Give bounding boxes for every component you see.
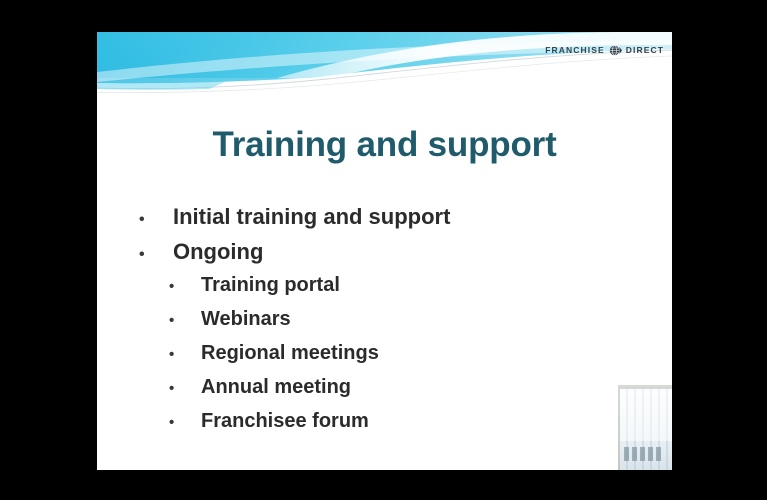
bullet-item-ongoing: • Ongoing xyxy=(97,239,672,274)
bullet-marker-icon: • xyxy=(169,414,201,431)
webcam-video-feed xyxy=(618,385,672,470)
bullet-item-annual-meeting: • Annual meeting xyxy=(97,376,672,410)
bullet-marker-icon: • xyxy=(169,278,201,295)
bullet-marker-icon: • xyxy=(169,380,201,397)
bullet-label: Franchisee forum xyxy=(201,410,369,433)
bullet-item-training-portal: • Training portal xyxy=(97,274,672,308)
video-letterbox-frame: FRANCHISE DIRECT Training and support • … xyxy=(0,0,767,500)
slide-title: Training and support xyxy=(97,126,672,165)
bullet-label: Training portal xyxy=(201,274,340,297)
bullet-marker-icon: • xyxy=(169,346,201,363)
bullet-item-webinars: • Webinars xyxy=(97,308,672,342)
bullet-item-franchisee-forum: • Franchisee forum xyxy=(97,410,672,444)
bullet-label: Initial training and support xyxy=(173,204,450,230)
slide-header-banner xyxy=(97,32,672,94)
bullet-item-initial-training-and-support: • Initial training and support xyxy=(97,204,672,239)
brand-word-franchise: FRANCHISE xyxy=(545,46,605,55)
bullet-label: Annual meeting xyxy=(201,376,351,399)
header-swoosh-graphic xyxy=(97,32,672,94)
bullet-marker-icon: • xyxy=(139,246,173,264)
bullet-label: Ongoing xyxy=(173,239,263,265)
bullet-marker-icon: • xyxy=(169,312,201,329)
brand-word-direct: DIRECT xyxy=(626,46,664,55)
franchise-direct-logo: FRANCHISE DIRECT xyxy=(545,44,664,57)
bullet-item-regional-meetings: • Regional meetings xyxy=(97,342,672,376)
bullet-label: Regional meetings xyxy=(201,342,379,365)
slide-bullet-list: • Initial training and support • Ongoing… xyxy=(97,204,672,444)
globe-icon xyxy=(609,44,622,57)
bullet-label: Webinars xyxy=(201,308,291,331)
presenter-webcam xyxy=(618,385,672,470)
bullet-marker-icon: • xyxy=(139,211,173,229)
presentation-slide: FRANCHISE DIRECT Training and support • … xyxy=(97,32,672,470)
